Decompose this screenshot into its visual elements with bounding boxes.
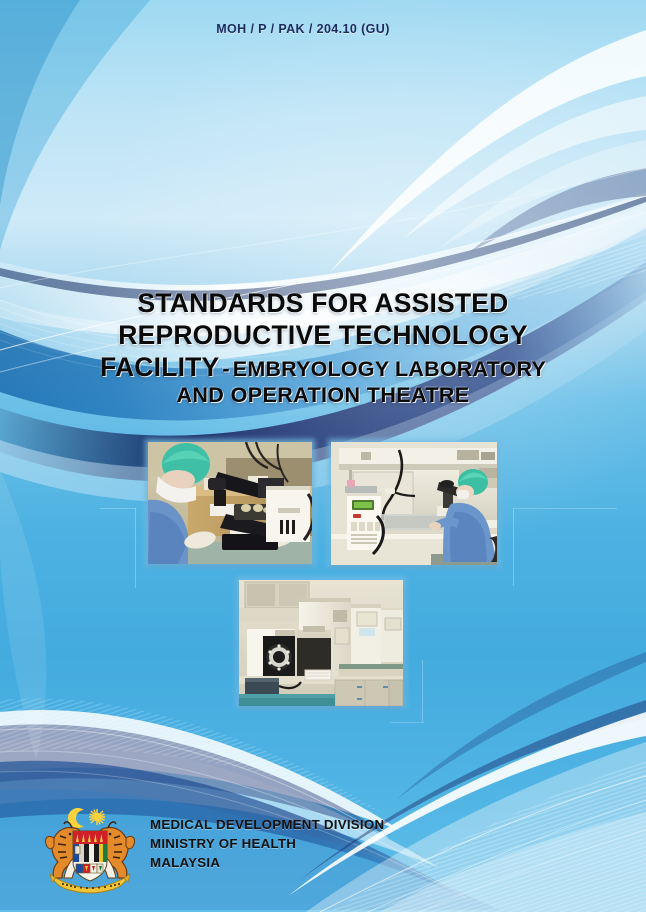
publisher-line-3: MALAYSIA — [150, 854, 384, 873]
decor-line-left-horizontal — [100, 508, 136, 509]
publisher-block: MEDICAL DEVELOPMENT DIVISION MINISTRY OF… — [40, 798, 384, 894]
publisher-line-1: MEDICAL DEVELOPMENT DIVISION — [150, 816, 384, 835]
document-cover: MOH / P / PAK / 204.10 (GU) STANDARDS FO… — [0, 0, 646, 912]
cover-title: STANDARDS FOR ASSISTED REPRODUCTIVE TECH… — [0, 288, 646, 409]
decor-line-left-vertical — [135, 508, 136, 588]
background-ribbon-artwork-top — [0, 0, 646, 912]
coat-of-arms-svg — [40, 798, 140, 894]
decor-line-center-vertical — [422, 660, 423, 722]
decor-line-right-horizontal — [513, 508, 617, 509]
photo-laminar-flow-hood-image — [331, 442, 497, 565]
title-embryology-laboratory: EMBRYOLOGY LABORATORY — [233, 357, 546, 381]
title-facility: FACILITY — [100, 352, 219, 382]
coat-of-arms-of-malaysia-icon — [40, 798, 140, 894]
photo-microscope — [148, 442, 312, 564]
title-line-1: STANDARDS FOR ASSISTED — [0, 288, 646, 320]
title-line-4: AND OPERATION THEATRE — [0, 383, 646, 409]
photo-laminar-flow-hood — [331, 442, 497, 565]
publisher-line-2: MINISTRY OF HEALTH — [150, 835, 384, 854]
publisher-text: MEDICAL DEVELOPMENT DIVISION MINISTRY OF… — [150, 816, 384, 873]
shield — [73, 831, 107, 881]
title-dash: - — [219, 357, 232, 381]
title-line-2: REPRODUCTIVE TECHNOLOGY — [0, 320, 646, 352]
photo-incubators-image — [239, 580, 403, 706]
decor-line-right-vertical — [513, 508, 514, 586]
document-reference-code: MOH / P / PAK / 204.10 (GU) — [0, 22, 646, 36]
crescent-and-star — [68, 808, 105, 828]
title-line-3: FACILITY-EMBRYOLOGY LABORATORY — [0, 352, 646, 384]
photo-microscope-image — [148, 442, 312, 564]
decor-line-center-horizontal — [390, 722, 424, 723]
photo-incubators — [239, 580, 403, 706]
